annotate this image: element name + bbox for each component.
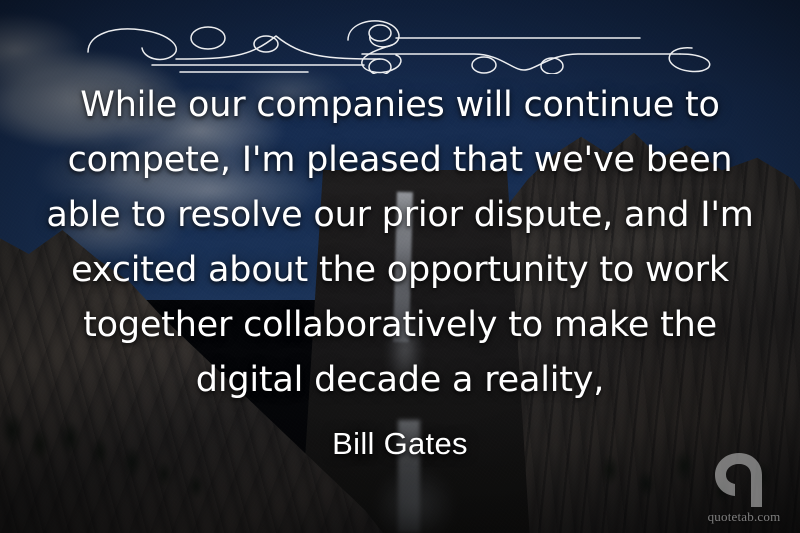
card-content: While our companies will continue to com… — [0, 0, 800, 533]
quote-text: While our companies will continue to com… — [40, 78, 760, 408]
author-name: Bill Gates — [332, 426, 468, 462]
watermark-site: quotetab.com — [708, 509, 781, 525]
quotetab-q-logo-icon — [713, 451, 775, 507]
watermark[interactable]: quotetab.com — [698, 451, 790, 525]
flourish-divider-icon — [80, 12, 720, 74]
quote-card: While our companies will continue to com… — [0, 0, 800, 533]
